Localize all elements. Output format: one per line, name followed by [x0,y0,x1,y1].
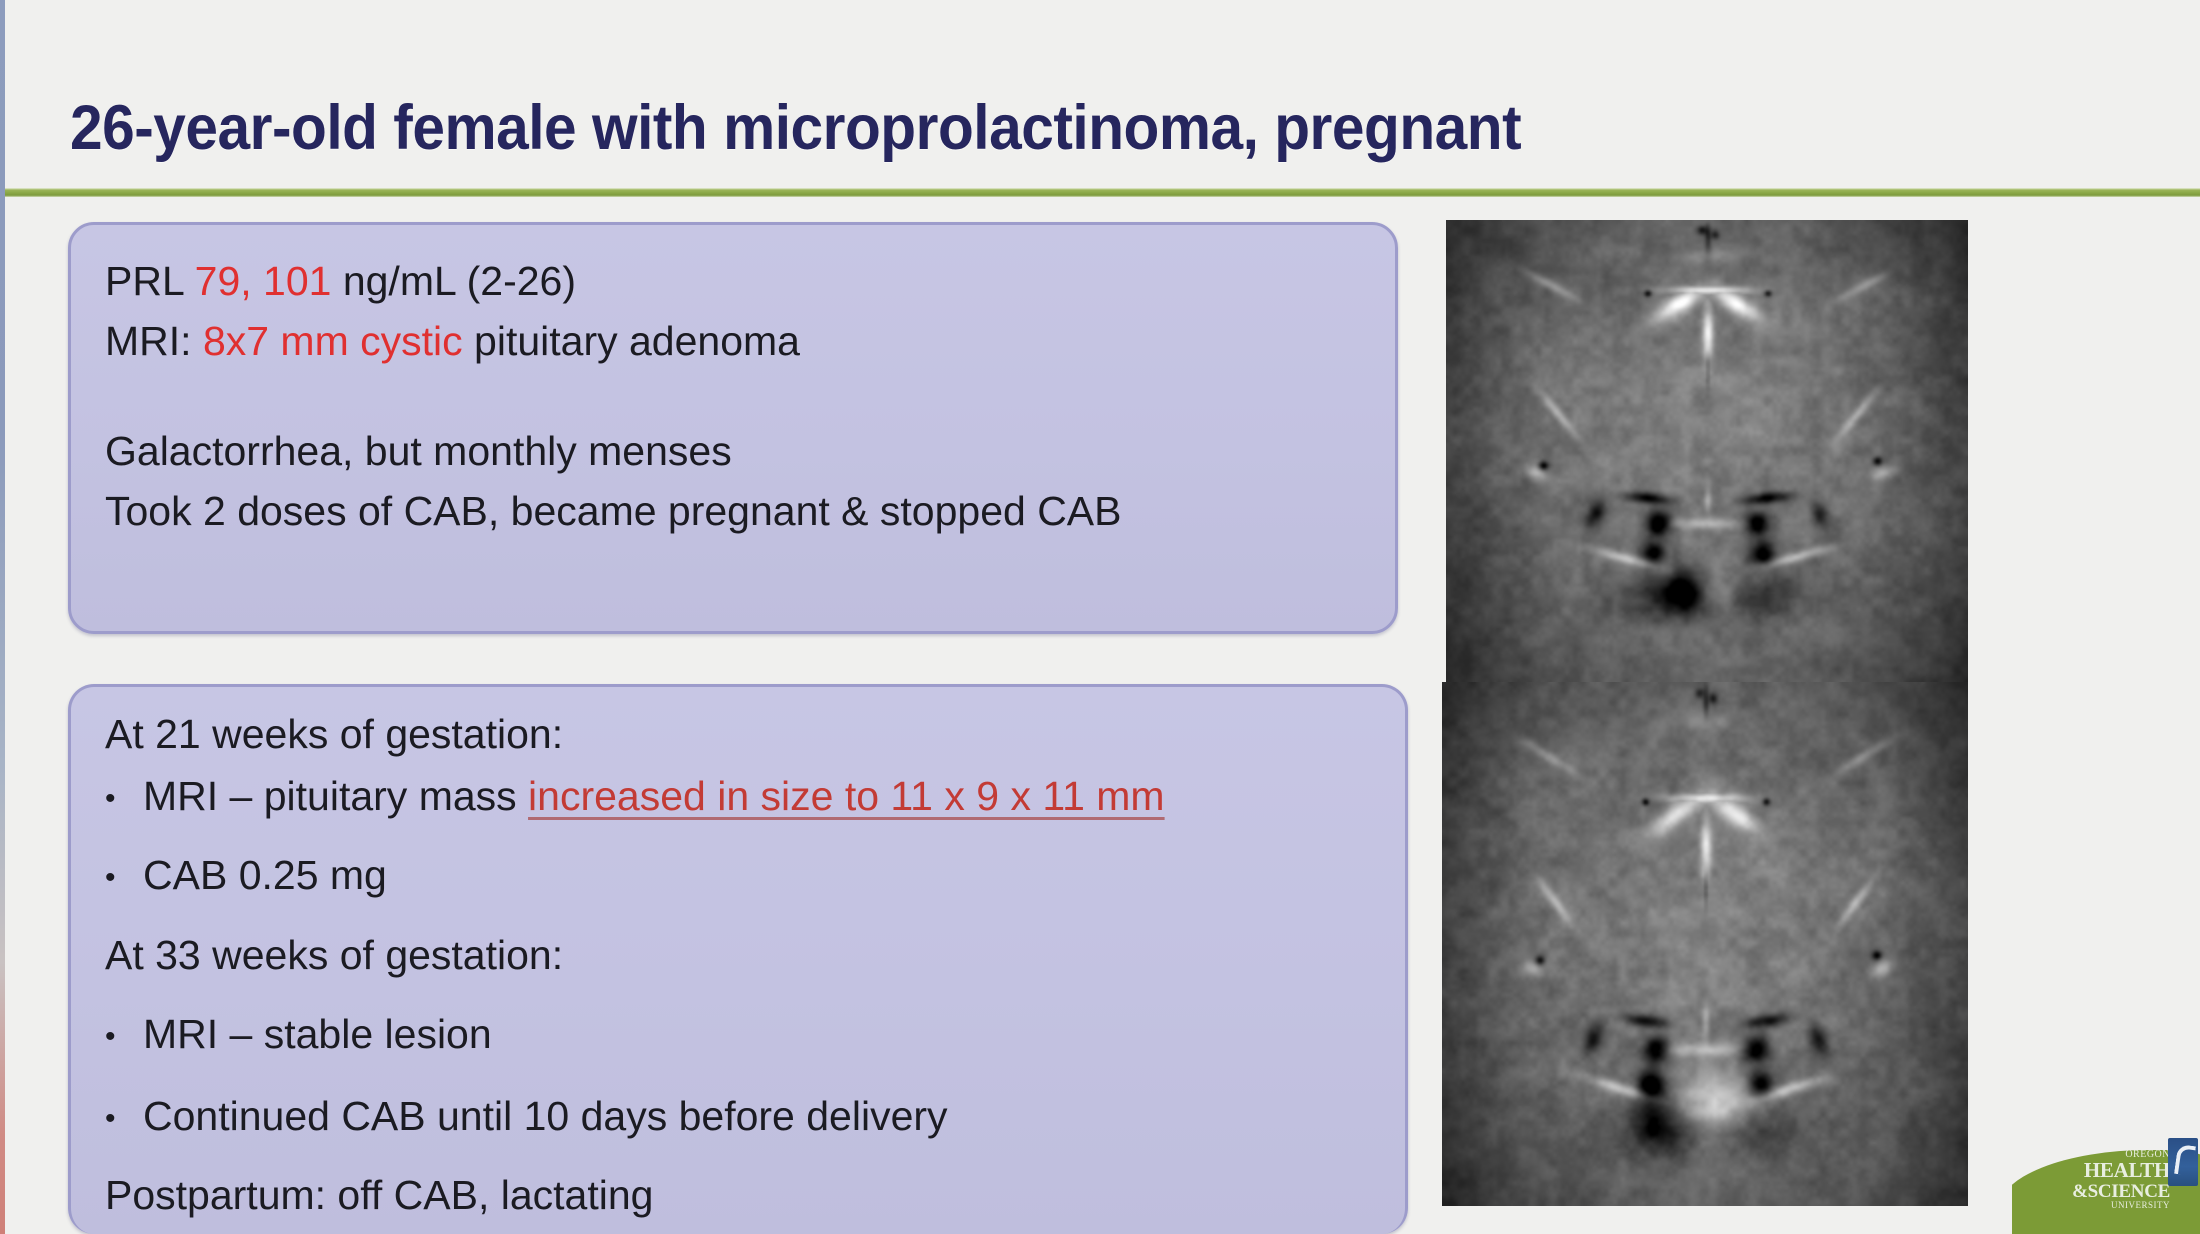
bullet-cab-dose-text: CAB 0.25 mg [143,852,387,898]
mri-image-baseline [1446,220,1968,682]
mri-lesion-size: 8x7 mm cystic [203,318,463,364]
logo-badge-icon [2168,1138,2198,1186]
logo-line-health: HEALTH [2038,1160,2170,1181]
gestation-course-box: At 21 weeks of gestation: MRI – pituitar… [68,684,1408,1234]
bullet-mri-increased: MRI – pituitary mass increased in size t… [105,776,1165,817]
mri-image-followup [1442,682,1968,1206]
mri-diagnosis: pituitary adenoma [463,318,800,364]
prl-values: 79, 101 [195,258,332,304]
bullet-marker-icon [105,1096,143,1137]
symptoms-line: Galactorrhea, but monthly menses [105,431,732,472]
mri-label: MRI: [105,318,203,364]
bullet-marker-icon [105,1014,143,1055]
bullet-mri-size-increase: increased in size to 11 x 9 x 11 mm [528,773,1165,819]
slide-canvas: 26-year-old female with microprolactinom… [0,0,2200,1234]
heading-21-weeks: At 21 weeks of gestation: [105,714,563,755]
mri-baseline-line: MRI: 8x7 mm cystic pituitary adenoma [105,321,800,362]
history-summary-box: PRL 79, 101 ng/mL (2-26) MRI: 8x7 mm cys… [68,222,1398,634]
left-edge-strip [0,0,5,1234]
heading-33-weeks: At 33 weeks of gestation: [105,935,563,976]
bullet-mri-stable: MRI – stable lesion [105,1014,492,1055]
bullet-marker-icon [105,855,143,896]
prl-line: PRL 79, 101 ng/mL (2-26) [105,261,576,302]
logo-line-university: UNIVERSITY [2038,1201,2170,1210]
title-divider-rule [0,188,2200,197]
prl-units-range: ng/mL (2-26) [331,258,576,304]
treatment-history-line: Took 2 doses of CAB, became pregnant & s… [105,491,1122,532]
bullet-marker-icon [105,776,143,817]
logo-wordmark: OREGON HEALTH &SCIENCE UNIVERSITY [2038,1150,2170,1210]
bullet-cab-dose: CAB 0.25 mg [105,855,387,896]
page-title: 26-year-old female with microprolactinom… [70,92,1986,164]
ohsu-logo: OREGON HEALTH &SCIENCE UNIVERSITY [2012,1136,2200,1234]
prl-label: PRL [105,258,195,304]
postpartum-line: Postpartum: off CAB, lactating [105,1175,653,1216]
bullet-cab-continued: Continued CAB until 10 days before deliv… [105,1096,948,1137]
logo-line-science: &SCIENCE [2038,1182,2170,1201]
bullet-cab-continued-text: Continued CAB until 10 days before deliv… [143,1093,948,1139]
bullet-mri-prefix: MRI – pituitary mass [143,773,528,819]
bullet-mri-stable-text: MRI – stable lesion [143,1011,492,1057]
